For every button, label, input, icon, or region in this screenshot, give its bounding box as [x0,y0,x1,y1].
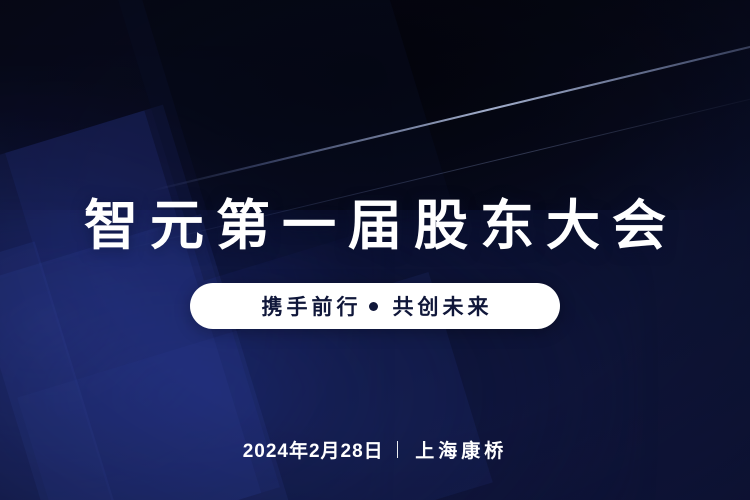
bullet-dot-icon [369,302,378,311]
event-location: 上海康桥 [411,436,507,463]
tagline-pill: 携手前行 共创未来 [190,283,560,329]
tagline-text: 携手前行 共创未来 [258,291,493,321]
event-footer: 2024年2月28日 上海康桥 [0,436,750,463]
event-banner: 智元第一届股东大会 携手前行 共创未来 2024年2月28日 上海康桥 [0,0,750,500]
footer-separator-icon [397,441,399,458]
tagline-left: 携手前行 [258,291,362,321]
event-title: 智元第一届股东大会 [0,199,750,253]
banner-content: 智元第一届股东大会 携手前行 共创未来 2024年2月28日 上海康桥 [0,0,750,500]
event-date: 2024年2月28日 [243,436,384,463]
tagline-right: 共创未来 [389,291,493,321]
